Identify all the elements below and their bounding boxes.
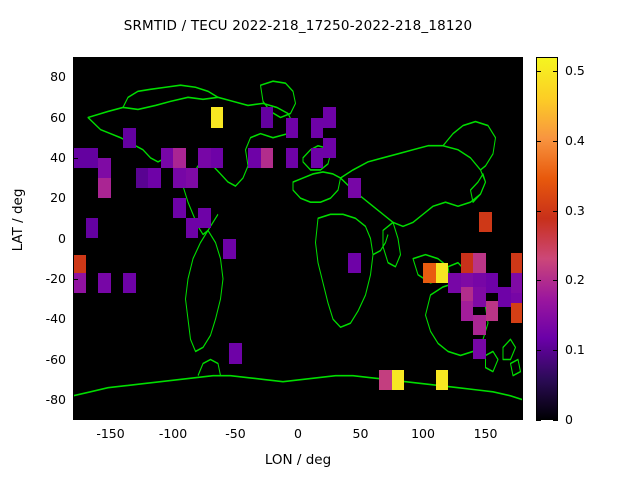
heatmap-cell [98,273,111,293]
heatmap-cell [436,370,449,390]
heatmap-cell [379,370,392,390]
heatmap-cell [161,148,174,168]
heatmap-cell [186,218,199,238]
heatmap-cell [148,168,161,188]
x-axis-tick [361,415,362,420]
heatmap-cell [223,239,236,259]
heatmap-cell [473,287,486,307]
colorbar-tick [553,350,558,351]
heatmap-cell [348,178,361,198]
heatmap-cell [323,138,336,158]
coastline-overlay [73,57,523,420]
heatmap-cell [123,273,136,293]
y-axis-tick [73,118,78,119]
colorbar-tick [553,71,558,72]
y-axis-title: LAT / deg [10,175,26,265]
heatmap-cell [486,273,499,293]
heatmap-cell [311,118,324,138]
colorbar-tick [553,280,558,281]
heatmap-cell [73,273,86,293]
heatmap-cell [173,198,186,218]
y-axis-tick-label: -80 [20,392,66,407]
x-axis-tick-label: 0 [268,426,328,441]
x-axis-tick [111,415,112,420]
y-axis-tick-label: 40 [20,150,66,165]
y-axis-tick-label: -40 [20,311,66,326]
heatmap-cell [98,158,111,178]
y-axis-tick [73,158,78,159]
heatmap-cell [123,128,136,148]
x-axis-tick [298,415,299,420]
heatmap-cell [461,301,474,321]
heatmap-cell [261,148,274,168]
x-axis-tick [236,415,237,420]
colorbar-gradient [537,58,557,419]
heatmap-cell [479,212,492,232]
y-axis-tick [73,360,78,361]
x-axis-tick [486,415,487,420]
colorbar-tick-label: 0.5 [565,63,585,78]
colorbar-tick-label: 0.1 [565,342,585,357]
y-axis-tick-label: -60 [20,352,66,367]
heatmap-cell [286,118,299,138]
colorbar-tick-label: 0.2 [565,272,585,287]
heatmap-cell [211,148,224,168]
heatmap-cell [211,107,224,127]
plot-page: SRMTID / TECU 2022-218_17250-2022-218_18… [0,0,640,480]
heatmap-cell [473,339,486,359]
heatmap-cell [261,107,274,127]
colorbar-tick [536,420,541,421]
heatmap-cell [229,343,242,363]
heatmap-cell [486,301,499,321]
heatmap-cell [98,178,111,198]
heatmap-cell [198,148,211,168]
y-axis-tick [73,239,78,240]
x-axis-tick-label: -50 [206,426,266,441]
heatmap-cell [186,168,199,188]
heatmap-cell [392,370,405,390]
y-axis-tick [73,319,78,320]
heatmap-cell [311,148,324,168]
colorbar-tick [553,211,558,212]
colorbar-tick [536,71,541,72]
page-title: SRMTID / TECU 2022-218_17250-2022-218_18… [0,18,596,34]
x-axis-tick-label: 150 [456,426,516,441]
y-axis-tick [73,279,78,280]
x-axis-title: LON / deg [73,452,523,468]
y-axis-tick-label: 0 [20,231,66,246]
colorbar-tick [553,420,558,421]
heatmap-cell [323,107,336,127]
heatmap-cell [498,287,511,307]
heatmap-cell [86,148,99,168]
heatmap-cell [511,253,524,273]
y-axis-tick-label: 60 [20,110,66,125]
heatmap-cell [73,255,86,275]
y-axis-tick [73,400,78,401]
colorbar-tick [553,141,558,142]
heatmap-cell [286,148,299,168]
x-axis-tick-label: 100 [393,426,453,441]
colorbar-tick [536,350,541,351]
heatmap-cell [436,263,449,283]
heatmap-cell [461,253,474,273]
heatmap-cell [473,253,486,273]
heatmap-cell [248,148,261,168]
heatmap-cell [86,218,99,238]
colorbar [536,57,558,420]
heatmap-cell [173,168,186,188]
colorbar-tick-label: 0 [565,412,573,427]
heatmap-cell [473,315,486,335]
heatmap-cell [136,168,149,188]
y-axis-tick [73,198,78,199]
x-axis-tick [173,415,174,420]
heatmap-cell [348,253,361,273]
heatmap-cell [173,148,186,168]
colorbar-tick-label: 0.4 [565,133,585,148]
heatmap-cell [423,263,436,283]
x-axis-tick-label: 50 [331,426,391,441]
colorbar-tick-label: 0.3 [565,203,585,218]
x-axis-tick-label: -100 [143,426,203,441]
colorbar-tick [536,141,541,142]
y-axis-tick-label: -20 [20,271,66,286]
colorbar-tick [536,280,541,281]
x-axis-tick [423,415,424,420]
colorbar-tick [536,211,541,212]
y-axis-tick-label: 20 [20,190,66,205]
map-heatmap-canvas [73,57,523,420]
y-axis-tick-label: 80 [20,69,66,84]
heatmap-cell [511,273,524,293]
y-axis-tick [73,77,78,78]
heatmap-cell [511,303,524,323]
heatmap-cell [198,208,211,228]
heatmap-cell [448,273,461,293]
x-axis-tick-label: -150 [81,426,141,441]
